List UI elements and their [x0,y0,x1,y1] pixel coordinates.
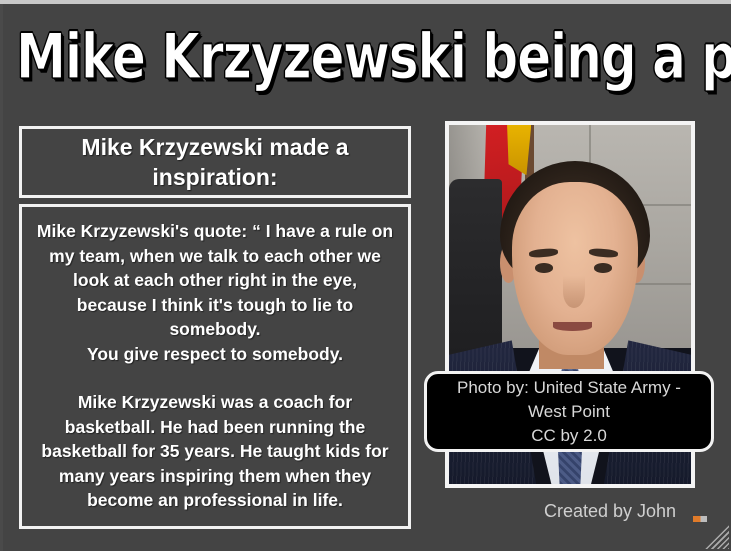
photo-credit-box[interactable]: Photo by: United State Army - West Point… [424,371,714,452]
photo-eye-right [594,263,612,272]
corner-mark [693,516,707,522]
resize-handle[interactable] [703,523,729,549]
author-credit: Created by John [520,500,700,522]
heading-box[interactable]: Mike Krzyzewski made a inspiration: [19,126,411,198]
canvas-top-strip [0,0,731,4]
page-title: Mike Krzyzewski being a positive coach [16,20,716,94]
page-title-text: Mike Krzyzewski being a positive coach [16,23,731,90]
photo-mouth [553,322,592,331]
heading-text: Mike Krzyzewski made a inspiration: [32,132,398,192]
canvas-left-edge-strip [0,4,3,551]
body-paragraph-biography: Mike Krzyzewski was a coach for basketba… [36,390,394,513]
photo-nose [563,276,585,308]
body-text-box[interactable]: Mike Krzyzewski's quote: “ I have a rule… [19,204,411,529]
body-paragraph-quote: Mike Krzyzewski's quote: “ I have a rule… [36,219,394,366]
photo-eye-left [535,263,553,272]
photo-credit-text: Photo by: United State Army - West Point… [437,376,701,448]
poster-canvas: Mike Krzyzewski being a positive coach M… [0,0,731,551]
